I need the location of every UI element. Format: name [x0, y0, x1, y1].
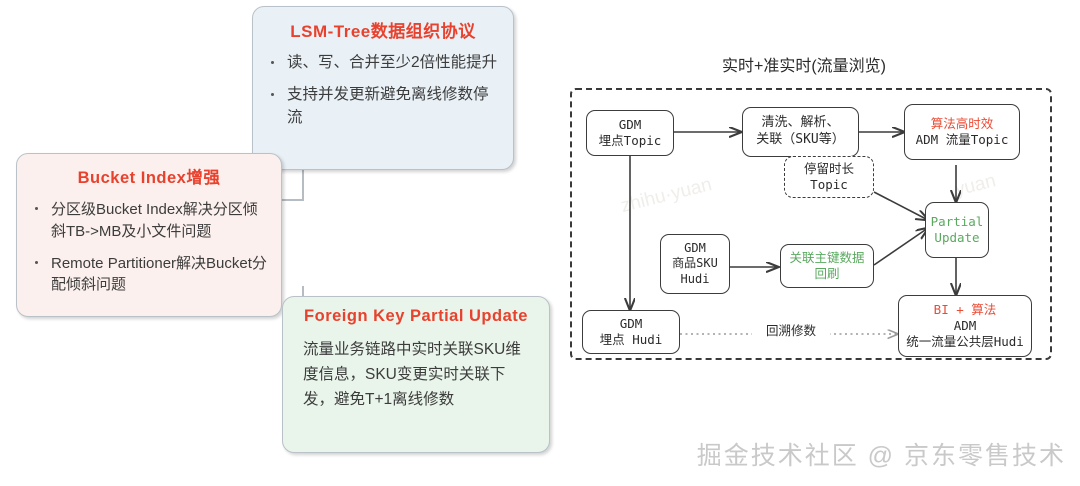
bullet-dot-icon — [271, 93, 274, 96]
edge-label-backtrack: 回溯修数 — [752, 320, 830, 339]
node-line-accent: BI + 算法 — [934, 302, 997, 318]
bullet-dot-icon — [35, 207, 38, 210]
node-line: Topic — [810, 177, 848, 193]
node-line-accent: 算法高时效 — [931, 116, 994, 132]
node-partial-update[interactable]: Partial Update — [925, 202, 989, 258]
card-lsm-tree-bullets: 读、写、合并至少2倍性能提升 支持并发更新避免离线修数停流 — [267, 52, 499, 129]
node-line: GDM — [620, 316, 643, 332]
card-foreign-key-partial-update: Foreign Key Partial Update 流量业务链路中实时关联SK… — [282, 296, 550, 453]
node-line: Hudi — [681, 272, 710, 287]
node-line: 关联（SKU等） — [756, 132, 844, 149]
list-item: Remote Partitioner解决Bucket分配倾斜问题 — [31, 253, 267, 297]
card-foreign-key-partial-update-body: 流量业务链路中实时关联SKU维度信息，SKU变更实时关联下发，避免T+1离线修数 — [297, 338, 535, 412]
node-stay-duration-topic[interactable]: 停留时长 Topic — [784, 156, 874, 198]
node-line: 统一流量公共层Hudi — [906, 334, 1024, 350]
node-gdm-sku-hudi[interactable]: GDM 商品SKU Hudi — [660, 234, 730, 294]
bullet-dot-icon — [35, 261, 38, 264]
node-line: GDM — [684, 241, 706, 256]
watermark: 掘金技术社区 @ 京东零售技术 — [697, 436, 1066, 472]
node-line: GDM — [619, 117, 642, 133]
node-line: Partial — [931, 214, 984, 230]
node-line: 关联主键数据 — [789, 250, 864, 266]
bullet-text: 分区级Bucket Index解决分区倾斜TB->MB及小文件问题 — [51, 201, 258, 240]
screenshot-canvas: zhihu·yuan zhihu·yuan yuan LSM-Tree数据组织协… — [0, 0, 1080, 486]
bullet-text: 支持并发更新避免离线修数停流 — [287, 86, 489, 125]
node-line: 埋点 Hudi — [600, 332, 663, 348]
list-item: 读、写、合并至少2倍性能提升 — [267, 52, 499, 74]
card-lsm-tree-title: LSM-Tree数据组织协议 — [267, 17, 499, 42]
flow-diagram: 实时+准实时(流量浏览) — [556, 52, 1052, 372]
node-clean-parse-join[interactable]: 清洗、解析、 关联（SKU等） — [742, 107, 859, 157]
bullet-text: 读、写、合并至少2倍性能提升 — [287, 54, 497, 71]
connector-bucket-joint — [282, 199, 304, 201]
card-foreign-key-partial-update-title: Foreign Key Partial Update — [297, 307, 535, 326]
node-line: 商品SKU — [672, 256, 718, 271]
node-line: 回刷 — [814, 266, 839, 282]
card-bucket-index: Bucket Index增强 分区级Bucket Index解决分区倾斜TB->… — [16, 153, 282, 317]
node-gdm-topic[interactable]: GDM 埋点Topic — [586, 110, 674, 156]
node-line: ADM — [954, 318, 977, 334]
node-join-primary-key-backfill[interactable]: 关联主键数据 回刷 — [780, 244, 874, 288]
connector-lsm-to-bucket — [302, 170, 304, 200]
node-adm-traffic-topic[interactable]: 算法高时效 ADM 流量Topic — [904, 104, 1020, 160]
bullet-dot-icon — [271, 61, 274, 64]
node-line: 停留时长 — [804, 161, 854, 177]
bullet-text: Remote Partitioner解决Bucket分配倾斜问题 — [51, 255, 267, 294]
node-line: ADM 流量Topic — [916, 132, 1009, 148]
node-line: 埋点Topic — [599, 133, 662, 149]
card-bucket-index-title: Bucket Index增强 — [31, 164, 267, 188]
node-line: 清洗、解析、 — [761, 115, 839, 132]
node-gdm-tracking-hudi[interactable]: GDM 埋点 Hudi — [582, 310, 680, 354]
card-bucket-index-bullets: 分区级Bucket Index解决分区倾斜TB->MB及小文件问题 Remote… — [31, 199, 267, 296]
node-adm-unified-public-hudi[interactable]: BI + 算法 ADM 统一流量公共层Hudi — [898, 295, 1032, 357]
list-item: 分区级Bucket Index解决分区倾斜TB->MB及小文件问题 — [31, 199, 267, 243]
list-item: 支持并发更新避免离线修数停流 — [267, 84, 499, 129]
card-lsm-tree: LSM-Tree数据组织协议 读、写、合并至少2倍性能提升 支持并发更新避免离线… — [252, 6, 514, 170]
node-line: Update — [934, 230, 979, 246]
